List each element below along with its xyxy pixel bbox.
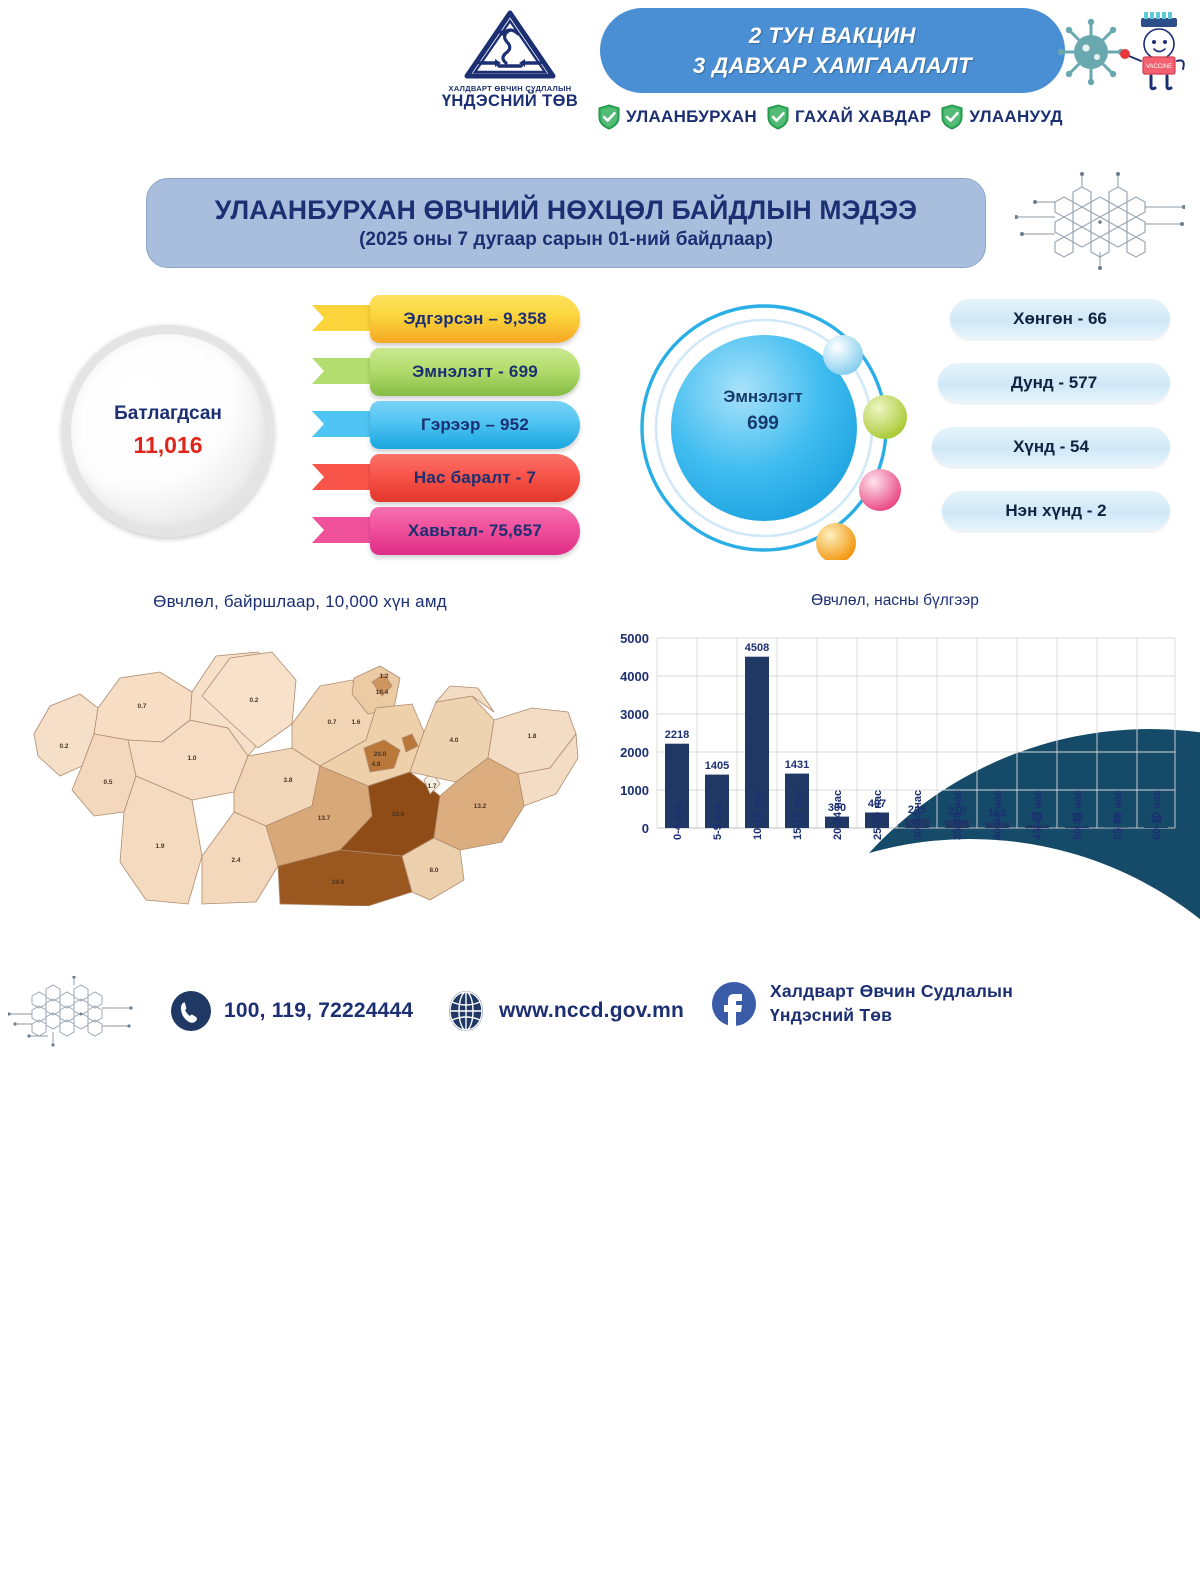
confirmed-cases-breakdown: Батлагдсан 11,016 Эдгэрсэн – 9,358 Эмнэл… bbox=[40, 295, 600, 560]
bar-value-label: 2218 bbox=[665, 729, 689, 741]
footer-facebook[interactable]: Халдварт Өвчин Судлалын Үндэсний Төв bbox=[710, 980, 1013, 1028]
globe-icon bbox=[445, 990, 487, 1032]
x-tick-label: 20-24 нас bbox=[832, 790, 844, 840]
infographic-page: ХАЛДВАРТ ӨВЧИН СУДЛАЛЫН ҮНДЭСНИЙ ТӨВ 2 Т… bbox=[0, 0, 1200, 1059]
bar-value-label: 4508 bbox=[745, 642, 769, 654]
bar-value-label: 1405 bbox=[705, 760, 729, 772]
x-tick-label: 15-19 нас bbox=[792, 790, 804, 840]
shield-check-icon bbox=[598, 104, 620, 130]
confirmed-value: 11,016 bbox=[133, 432, 202, 459]
map-value-label: 0.7 bbox=[138, 703, 147, 710]
funnel-pill[interactable]: Нас баралт - 7 bbox=[370, 454, 580, 502]
y-tick-label: 5000 bbox=[620, 631, 649, 646]
map-value-label: 0.2 bbox=[60, 743, 69, 750]
map-value-label: 0.7 bbox=[328, 719, 337, 726]
x-tick-label: 25-29 нас bbox=[872, 790, 884, 840]
incidence-map-panel: Өвчлөл, байршлаар, 10,000 хүн амд bbox=[10, 592, 590, 922]
page-title: УЛААНБУРХАН ӨВЧНИЙ НӨХЦӨЛ БАЙДЛЫН МЭДЭЭ bbox=[215, 195, 917, 226]
mascot-icon: VACCINE bbox=[1120, 12, 1184, 89]
logo-title: ҮНДЭСНИЙ ТӨВ bbox=[430, 93, 590, 110]
map-title: Өвчлөл, байршлаар, 10,000 хүн амд bbox=[10, 592, 590, 612]
funnel-label: Нас баралт - 7 bbox=[414, 468, 536, 488]
x-tick-label: 45-49 нас bbox=[1032, 790, 1044, 840]
severity-dot-mild bbox=[823, 335, 863, 375]
age-group-chart-panel: Өвчлөл, насны бүлгээр bbox=[595, 592, 1195, 937]
x-tick-label: 0-4 нас bbox=[672, 802, 684, 840]
map-value-label: 0.2 bbox=[250, 697, 259, 704]
bar-value-label: 1431 bbox=[785, 759, 809, 771]
map-value-label: 1.0 bbox=[188, 755, 197, 762]
badge-label: ГАХАЙ ХАВДАР bbox=[795, 107, 931, 127]
phone-icon bbox=[170, 990, 212, 1032]
chart-title: Өвчлөл, насны бүлгээр bbox=[595, 592, 1195, 610]
footer-phone[interactable]: 100, 119, 72224444 bbox=[170, 990, 413, 1032]
badge-gakhai-khavdar[interactable]: ГАХАЙ ХАВДАР bbox=[767, 104, 931, 130]
severity-dot-moderate bbox=[863, 395, 907, 439]
facebook-icon bbox=[710, 980, 758, 1028]
x-tick-label: 5-9 нас bbox=[712, 802, 724, 840]
funnel-row-deaths[interactable]: Нас баралт - 7 bbox=[312, 454, 602, 505]
map-value-label: 10.4 bbox=[376, 689, 389, 696]
map-value-label: 32.6 bbox=[392, 811, 405, 818]
funnel-label: Эмнэлэгт - 699 bbox=[412, 362, 538, 382]
y-tick-label: 3000 bbox=[620, 707, 649, 722]
map-value-label: 13.7 bbox=[318, 815, 331, 822]
ribbon-connector bbox=[312, 515, 376, 545]
map-value-label: 1.9 bbox=[156, 843, 165, 850]
ribbon-connector bbox=[312, 462, 376, 492]
ribbon-connector bbox=[312, 356, 376, 386]
slogan-line-2: 3 ДАВХАР ХАМГААЛАЛТ bbox=[693, 51, 972, 81]
chart-y-axis: 5000 4000 3000 2000 1000 0 bbox=[620, 631, 649, 836]
map-value-label: 13.2 bbox=[474, 803, 487, 810]
severity-dot-critical bbox=[816, 523, 856, 560]
confirmed-total-sphere: Батлагдсан 11,016 bbox=[62, 325, 274, 537]
funnel-pill[interactable]: Эмнэлэгт - 699 bbox=[370, 348, 580, 396]
footer: 100, 119, 72224444 www.nccd.gov.mn bbox=[0, 966, 1200, 1059]
map-value-label: 1.6 bbox=[352, 719, 361, 726]
funnel-row-contacts[interactable]: Хавьтал- 75,657 bbox=[312, 507, 602, 558]
age-group-bar-chart: 5000 4000 3000 2000 1000 0 bbox=[595, 616, 1195, 936]
orbit-core-label: Эмнэлэгт bbox=[670, 387, 856, 407]
map-value-label: 2.4 bbox=[232, 857, 241, 864]
footer-fb-line2: Үндэсний Төв bbox=[770, 1005, 892, 1025]
header: ХАЛДВАРТ ӨВЧИН СУДЛАЛЫН ҮНДЭСНИЙ ТӨВ 2 Т… bbox=[0, 0, 1200, 158]
svg-text:VACCINE: VACCINE bbox=[1146, 64, 1172, 70]
disease-badge-list: УЛААНБУРХАН ГАХАЙ ХАВДАР УЛААНУУД bbox=[598, 104, 1063, 130]
y-tick-label: 2000 bbox=[620, 745, 649, 760]
triangle-caduceus-logo-icon bbox=[462, 8, 558, 82]
orbit-core-text: Эмнэлэгт 699 bbox=[670, 387, 856, 435]
shield-check-icon bbox=[941, 104, 963, 130]
footer-phone-text: 100, 119, 72224444 bbox=[224, 999, 413, 1023]
severity-pill-severe[interactable]: Хүнд - 54 bbox=[932, 427, 1170, 467]
x-tick-label: 10-14 нас bbox=[752, 790, 764, 840]
severity-pill-mild[interactable]: Хөнгөн - 66 bbox=[950, 299, 1170, 339]
x-tick-label: 30-34 нас bbox=[912, 790, 924, 840]
severity-label: Хүнд - 54 bbox=[1013, 437, 1089, 457]
map-value-label: 3.8 bbox=[284, 777, 293, 784]
map-value-label: 8.0 bbox=[430, 867, 439, 874]
hospitalized-severity-breakdown: Эмнэлэгт 699 Хөнгөн - 66 Дунд - 577 Хүнд… bbox=[640, 295, 1180, 560]
y-tick-label: 1000 bbox=[620, 783, 649, 798]
map-value-label: 0.5 bbox=[104, 779, 113, 786]
funnel-label: Хавьтал- 75,657 bbox=[408, 521, 542, 541]
map-value-label: 20.0 bbox=[374, 751, 387, 758]
funnel-row-home-care[interactable]: Гэрээр – 952 bbox=[312, 401, 602, 452]
funnel-pill[interactable]: Хавьтал- 75,657 bbox=[370, 507, 580, 555]
funnel-rows: Эдгэрсэн – 9,358 Эмнэлэгт - 699 Гэрээр –… bbox=[312, 295, 602, 560]
funnel-label: Эдгэрсэн – 9,358 bbox=[403, 309, 546, 329]
x-tick-label: 50-54 нас bbox=[1072, 790, 1084, 840]
footer-website[interactable]: www.nccd.gov.mn bbox=[445, 990, 684, 1032]
funnel-row-recovered[interactable]: Эдгэрсэн – 9,358 bbox=[312, 295, 602, 346]
ribbon-connector bbox=[312, 303, 376, 333]
virus-icon bbox=[1058, 19, 1124, 85]
honeycomb-decoration-icon bbox=[1015, 172, 1185, 277]
severity-label: Нэн хүнд - 2 bbox=[1005, 501, 1106, 521]
page-title-banner: УЛААНБУРХАН ӨВЧНИЙ НӨХЦӨЛ БАЙДЛЫН МЭДЭЭ … bbox=[146, 178, 986, 268]
footer-facebook-text: Халдварт Өвчин Судлалын Үндэсний Төв bbox=[770, 980, 1013, 1027]
slogan-line-1: 2 ТУН ВАКЦИН bbox=[749, 21, 916, 51]
footer-fb-line1: Халдварт Өвчин Судлалын bbox=[770, 981, 1013, 1001]
severity-pill-list: Хөнгөн - 66 Дунд - 577 Хүнд - 54 Нэн хүн… bbox=[932, 299, 1180, 555]
severity-dot-severe bbox=[859, 469, 901, 511]
organization-logo: ХАЛДВАРТ ӨВЧИН СУДЛАЛЫН ҮНДЭСНИЙ ТӨВ bbox=[430, 8, 590, 110]
badge-label: УЛААНУУД bbox=[969, 107, 1062, 127]
ribbon-connector bbox=[312, 409, 376, 439]
map-value-label: 1.2 bbox=[380, 673, 389, 680]
x-tick-label: 40-44 нас bbox=[992, 790, 1004, 840]
honeycomb-decoration-icon bbox=[8, 976, 158, 1050]
funnel-label: Гэрээр – 952 bbox=[421, 415, 529, 435]
funnel-pill[interactable]: Гэрээр – 952 bbox=[370, 401, 580, 449]
watermark-wire: wire bbox=[1084, 991, 1190, 1053]
y-tick-label: 4000 bbox=[620, 669, 649, 684]
slogan-banner: 2 ТУН ВАКЦИН 3 ДАВХАР ХАМГААЛАЛТ bbox=[600, 8, 1065, 93]
x-tick-label: 55-59 нас bbox=[1112, 790, 1124, 840]
funnel-pill[interactable]: Эдгэрсэн – 9,358 bbox=[370, 295, 580, 343]
map-value-label: 1.7 bbox=[428, 783, 437, 790]
funnel-row-hospitalized[interactable]: Эмнэлэгт - 699 bbox=[312, 348, 602, 399]
x-tick-label: 35-39 нас bbox=[952, 790, 964, 840]
severity-pill-moderate[interactable]: Дунд - 577 bbox=[938, 363, 1170, 403]
footer-website-text: www.nccd.gov.mn bbox=[499, 999, 684, 1023]
map-value-label: 4.0 bbox=[450, 737, 459, 744]
badge-izlaanburkhan[interactable]: УЛААНБУРХАН bbox=[598, 104, 757, 130]
orbit-core-value: 699 bbox=[670, 413, 856, 435]
map-value-label: 4.8 bbox=[372, 761, 381, 768]
x-tick-label: 60-70 нас bbox=[1151, 790, 1163, 840]
severity-label: Хөнгөн - 66 bbox=[1013, 309, 1107, 329]
map-value-label: 24.6 bbox=[332, 879, 345, 886]
confirmed-label: Батлагдсан bbox=[114, 403, 222, 425]
badge-label: УЛААНБУРХАН bbox=[626, 107, 757, 127]
severity-label: Дунд - 577 bbox=[1011, 373, 1097, 393]
severity-pill-critical[interactable]: Нэн хүнд - 2 bbox=[942, 491, 1170, 531]
shield-check-icon bbox=[767, 104, 789, 130]
page-subtitle: (2025 оны 7 дугаар сарын 01-ний байдлаар… bbox=[359, 229, 773, 251]
map-value-label: 1.8 bbox=[528, 733, 537, 740]
vaccine-mascot-illustration: VACCINE bbox=[1055, 8, 1195, 100]
mongolia-choropleth-map: 0.2 0.7 0.5 1.0 1.9 0.2 3.8 2.4 0.7 1.6 … bbox=[20, 616, 580, 906]
y-tick-label: 0 bbox=[642, 821, 649, 836]
badge-ulaanuud[interactable]: УЛААНУУД bbox=[941, 104, 1062, 130]
